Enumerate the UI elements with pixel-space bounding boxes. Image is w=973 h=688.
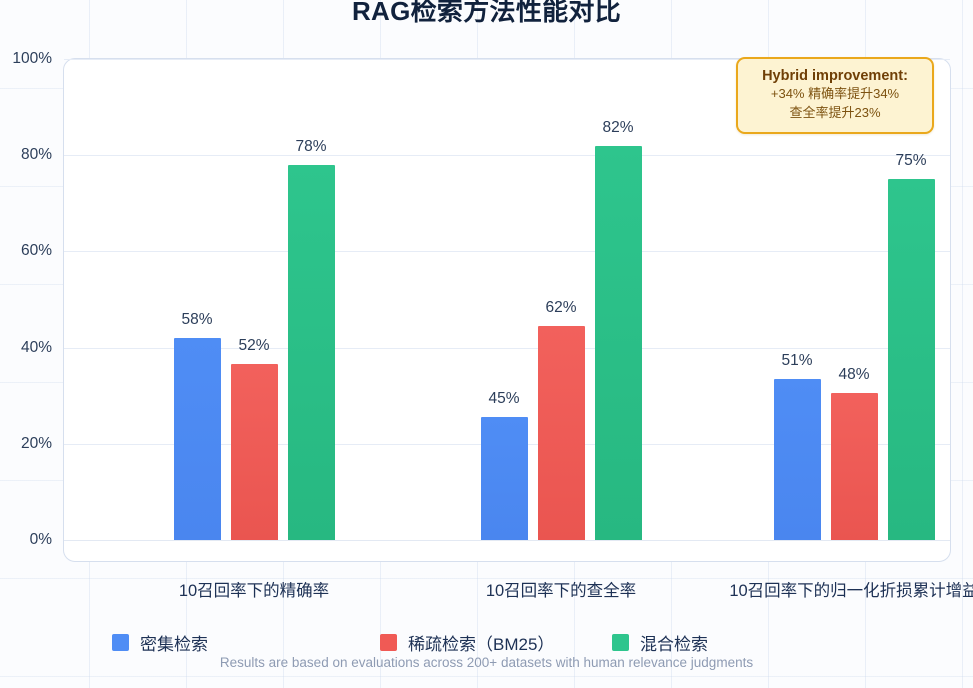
- bar-sparse[interactable]: [231, 364, 278, 540]
- bar-value-label: 52%: [214, 337, 294, 355]
- bar-value-label: 62%: [521, 299, 601, 317]
- bar-dense[interactable]: [774, 379, 821, 540]
- x-axis-label: 10召回率下的查全率: [486, 577, 636, 601]
- bar-dense[interactable]: [481, 417, 528, 540]
- legend-item-sparse[interactable]: 稀疏检索（BM25）: [380, 630, 554, 655]
- legend-swatch-icon: [612, 634, 629, 651]
- legend-swatch-icon: [380, 634, 397, 651]
- bar-value-label: 45%: [464, 390, 544, 408]
- legend-item-hybrid[interactable]: 混合检索: [612, 630, 708, 655]
- bar-hybrid[interactable]: [288, 165, 335, 540]
- x-axis-label: 10召回率下的精确率: [179, 577, 329, 601]
- bar-dense[interactable]: [174, 338, 221, 540]
- bar-sparse[interactable]: [538, 326, 585, 540]
- bar-hybrid[interactable]: [595, 146, 642, 540]
- y-axis-tick: 20%: [21, 435, 52, 453]
- y-axis-tick: 80%: [21, 146, 52, 164]
- legend-label: 密集检索: [140, 630, 208, 655]
- legend-swatch-icon: [112, 634, 129, 651]
- legend: 密集检索稀疏检索（BM25）混合检索: [0, 630, 973, 656]
- y-axis-tick: 0%: [30, 531, 52, 549]
- bar-value-label: 58%: [157, 311, 237, 329]
- callout-title: Hybrid improvement:: [744, 67, 926, 85]
- callout-line-precision: +34% 精确率提升34%: [744, 85, 926, 104]
- bar-hybrid[interactable]: [888, 179, 935, 540]
- legend-label: 稀疏检索（BM25）: [408, 630, 554, 655]
- footnote: Results are based on evaluations across …: [0, 655, 973, 670]
- y-axis-tick: 60%: [21, 242, 52, 260]
- bar-value-label: 48%: [814, 366, 894, 384]
- y-axis-tick: 100%: [12, 50, 52, 68]
- bar-value-label: 82%: [578, 119, 658, 137]
- bar-sparse[interactable]: [831, 393, 878, 540]
- y-axis: 0%20%40%60%80%100%: [0, 0, 63, 688]
- callout-line-recall: 查全率提升23%: [744, 104, 926, 123]
- y-axis-tick: 40%: [21, 339, 52, 357]
- page-title: RAG检索方法性能对比: [0, 0, 973, 28]
- hybrid-improvement-callout: Hybrid improvement: +34% 精确率提升34% 查全率提升2…: [736, 57, 934, 134]
- bar-value-label: 75%: [871, 152, 951, 170]
- x-axis-labels: 10召回率下的精确率10召回率下的查全率10召回率下的归一化折损累计增益: [64, 577, 950, 607]
- legend-item-dense[interactable]: 密集检索: [112, 630, 208, 655]
- legend-label: 混合检索: [640, 630, 708, 655]
- x-axis-label: 10召回率下的归一化折损累计增益: [729, 577, 973, 601]
- bar-value-label: 78%: [271, 138, 351, 156]
- chart-page: RAG检索方法性能对比 0%20%40%60%80%100% 58%52%78%…: [0, 0, 973, 688]
- bar-group: 45%62%82%: [481, 59, 642, 540]
- bar-group: 58%52%78%: [174, 59, 335, 540]
